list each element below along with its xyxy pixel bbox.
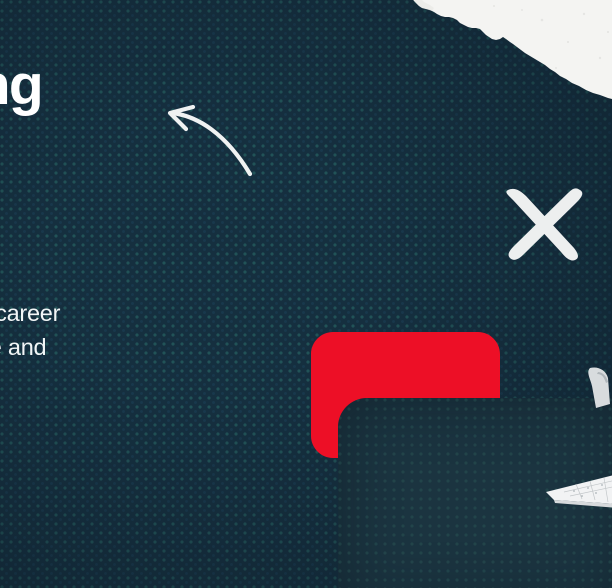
laptop-hinge — [584, 366, 610, 408]
body-copy-line-3: the web. — [0, 364, 60, 398]
keyboard-illustration — [546, 474, 612, 522]
hand-drawn-curved-arrow-icon — [158, 96, 270, 180]
body-copy-line-2: d expert advice and — [0, 330, 60, 364]
body-copy-line-1: w to take your career — [0, 296, 60, 330]
torn-paper-edge — [372, 0, 612, 118]
hero-banner: eting d w to take your career d expert a… — [0, 0, 612, 588]
hand-drawn-x-mark-icon — [496, 176, 592, 264]
page-title: eting — [0, 54, 42, 116]
body-copy: w to take your career d expert advice an… — [0, 296, 60, 398]
